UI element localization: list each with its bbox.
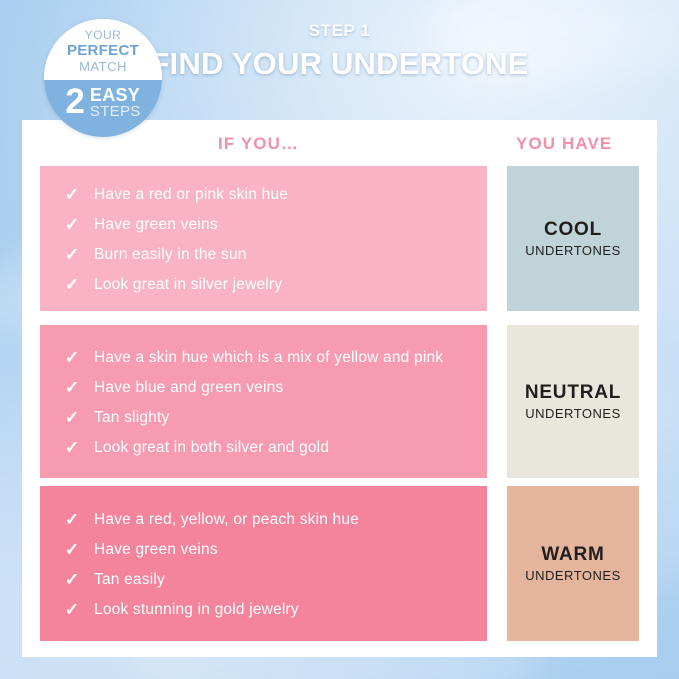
- trait-item: ✓ Tan easily: [60, 569, 471, 591]
- column-header-if-you: IF YOU…: [218, 134, 299, 154]
- check-icon: ✓: [60, 377, 84, 399]
- traits-panel-neutral: ✓ Have a skin hue which is a mix of yell…: [40, 325, 487, 478]
- trait-text: Look great in both silver and gold: [94, 437, 329, 459]
- undertone-name: WARM: [541, 544, 604, 566]
- check-icon: ✓: [60, 347, 84, 369]
- undertone-subtitle: UNDERTONES: [525, 242, 621, 259]
- undertone-name: COOL: [544, 219, 602, 241]
- trait-item: ✓ Have green veins: [60, 539, 471, 561]
- badge-line-match: MATCH: [79, 59, 127, 74]
- check-icon: ✓: [60, 244, 84, 266]
- trait-item: ✓ Have green veins: [60, 214, 471, 236]
- badge-step-count: 2: [65, 85, 84, 119]
- trait-item: ✓ Look great in silver jewelry: [60, 274, 471, 296]
- undertone-row-neutral: ✓ Have a skin hue which is a mix of yell…: [22, 325, 657, 478]
- trait-item: ✓ Look stunning in gold jewelry: [60, 599, 471, 621]
- badge-line-perfect: PERFECT: [67, 42, 139, 59]
- check-icon: ✓: [60, 214, 84, 236]
- undertone-subtitle: UNDERTONES: [525, 405, 621, 422]
- undertone-swatch-warm: WARM UNDERTONES: [507, 486, 639, 641]
- check-icon: ✓: [60, 437, 84, 459]
- badge-line-easy: EASY: [90, 86, 140, 104]
- trait-item: ✓ Have a red, yellow, or peach skin hue: [60, 509, 471, 531]
- trait-text: Burn easily in the sun: [94, 244, 247, 266]
- undertone-row-cool: ✓ Have a red or pink skin hue ✓ Have gre…: [22, 166, 657, 311]
- badge-line-steps: STEPS: [90, 104, 141, 120]
- undertone-row-warm: ✓ Have a red, yellow, or peach skin hue …: [22, 486, 657, 641]
- undertone-infographic: STEP 1 FIND YOUR UNDERTONE YOUR PERFECT …: [0, 0, 679, 679]
- traits-panel-cool: ✓ Have a red or pink skin hue ✓ Have gre…: [40, 166, 487, 311]
- trait-item: ✓ Have blue and green veins: [60, 377, 471, 399]
- check-icon: ✓: [60, 599, 84, 621]
- trait-text: Tan slighty: [94, 407, 169, 429]
- trait-item: ✓ Look great in both silver and gold: [60, 437, 471, 459]
- check-icon: ✓: [60, 407, 84, 429]
- trait-item: ✓ Have a skin hue which is a mix of yell…: [60, 347, 471, 369]
- traits-panel-warm: ✓ Have a red, yellow, or peach skin hue …: [40, 486, 487, 641]
- trait-text: Have green veins: [94, 539, 218, 561]
- undertone-swatch-cool: COOL UNDERTONES: [507, 166, 639, 311]
- badge-bottom-half: 2 EASY STEPS: [44, 80, 162, 137]
- column-headers: IF YOU… YOU HAVE: [22, 134, 657, 164]
- undertone-subtitle: UNDERTONES: [525, 567, 621, 584]
- check-icon: ✓: [60, 509, 84, 531]
- badge-top-half: YOUR PERFECT MATCH: [44, 19, 162, 80]
- badge-steps-text: EASY STEPS: [90, 85, 141, 120]
- trait-item: ✓ Burn easily in the sun: [60, 244, 471, 266]
- trait-item: ✓ Tan slighty: [60, 407, 471, 429]
- trait-text: Have a red, yellow, or peach skin hue: [94, 509, 359, 531]
- column-header-you-have: YOU HAVE: [516, 134, 612, 154]
- trait-text: Look great in silver jewelry: [94, 274, 282, 296]
- perfect-match-badge: YOUR PERFECT MATCH 2 EASY STEPS: [44, 19, 162, 137]
- check-icon: ✓: [60, 569, 84, 591]
- undertone-name: NEUTRAL: [525, 382, 621, 404]
- check-icon: ✓: [60, 184, 84, 206]
- trait-text: Have green veins: [94, 214, 218, 236]
- check-icon: ✓: [60, 539, 84, 561]
- check-icon: ✓: [60, 274, 84, 296]
- trait-text: Look stunning in gold jewelry: [94, 599, 299, 621]
- trait-item: ✓ Have a red or pink skin hue: [60, 184, 471, 206]
- content-card: IF YOU… YOU HAVE ✓ Have a red or pink sk…: [22, 120, 657, 657]
- undertone-swatch-neutral: NEUTRAL UNDERTONES: [507, 325, 639, 478]
- trait-text: Have a red or pink skin hue: [94, 184, 288, 206]
- trait-text: Tan easily: [94, 569, 165, 591]
- trait-text: Have blue and green veins: [94, 377, 283, 399]
- trait-text: Have a skin hue which is a mix of yellow…: [94, 347, 443, 369]
- badge-line-your: YOUR: [85, 29, 122, 42]
